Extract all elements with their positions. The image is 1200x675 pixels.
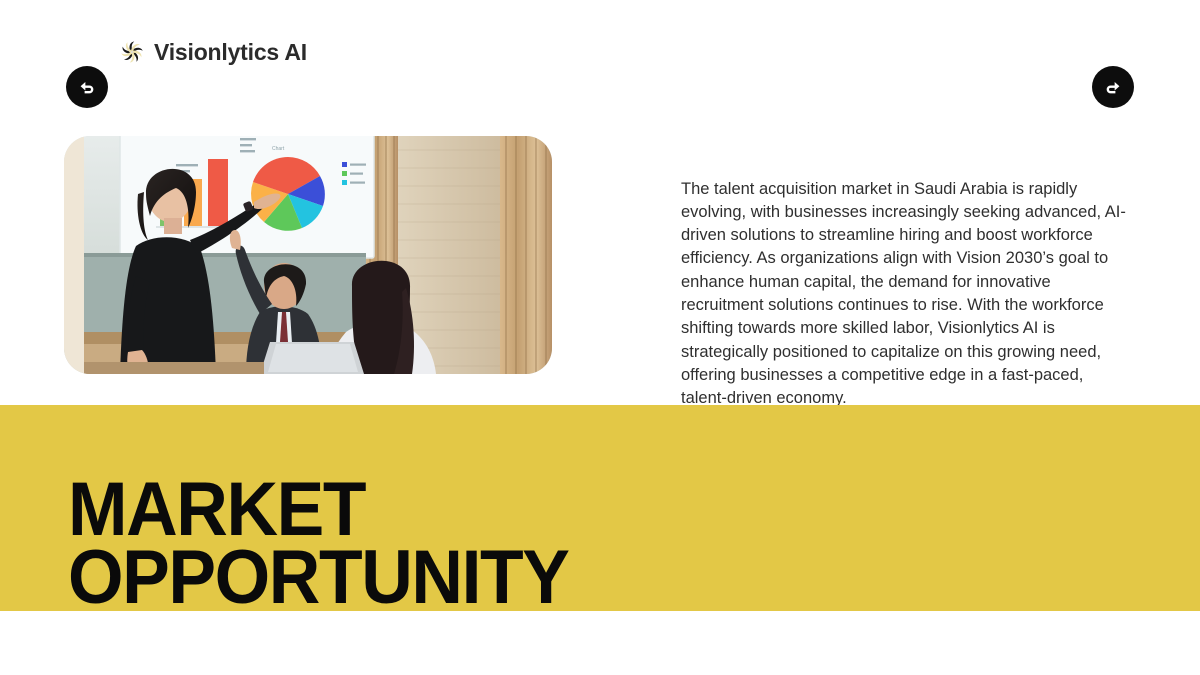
hero-photo: Chart: [64, 136, 552, 374]
pinwheel-logo-icon: [119, 39, 145, 65]
body-paragraph: The talent acquisition market in Saudi A…: [681, 178, 1133, 411]
page-title: MARKET OPPORTUNITY: [68, 476, 726, 612]
undo-arrow-icon: [76, 76, 98, 98]
back-button[interactable]: [66, 66, 108, 108]
redo-arrow-icon: [1102, 76, 1124, 98]
slide-canvas: Visionlytics AI: [0, 0, 1200, 675]
svg-text:Chart: Chart: [272, 146, 285, 152]
brand-name: Visionlytics AI: [154, 41, 307, 64]
brand-lockup: Visionlytics AI: [119, 36, 307, 68]
forward-button[interactable]: [1092, 66, 1134, 108]
